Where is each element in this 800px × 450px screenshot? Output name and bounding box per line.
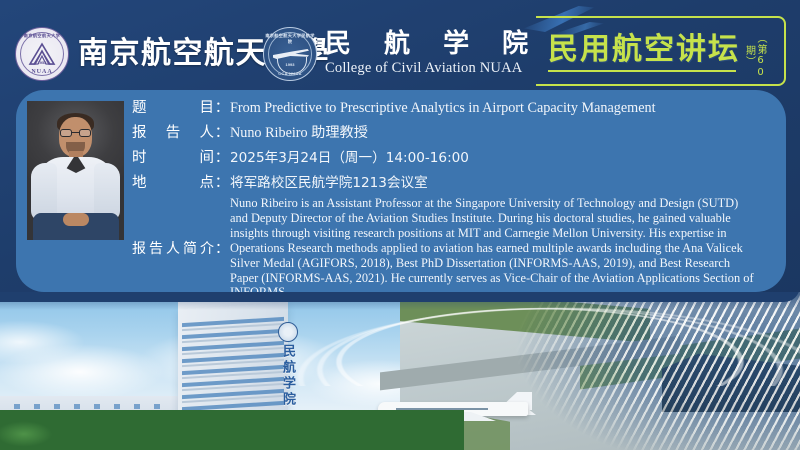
portrait-glasses-icon xyxy=(60,129,91,137)
header: 南京航空航天大学 1952 NUAA 南京航空航天大學 南京航空航天大学民航学院… xyxy=(0,0,800,90)
bottom-imagery: 民航学院 xyxy=(0,292,800,450)
seal-arc-text: 南京航空航天大学 xyxy=(16,33,68,39)
seal-acronym: NUAA xyxy=(16,69,68,75)
seal-arc-text: 南京航空航天大学民航学院 xyxy=(264,33,316,45)
bio-text: Nuno Ribeiro is an Assistant Professor a… xyxy=(230,196,782,300)
portrait-hands xyxy=(63,213,89,226)
forum-underline xyxy=(548,70,736,72)
info-colon: ： xyxy=(214,146,230,171)
speaker-bio-block: 报告人简介 ： Nuno Ribeiro is an Assistant Pro… xyxy=(132,196,782,300)
forum-title-block: 民用航空讲坛 （第60期） xyxy=(538,16,786,86)
building-vertical-text: 民航学院 xyxy=(277,344,297,408)
speaker-portrait-photo xyxy=(27,101,124,240)
forum-issue-number: （第60期） xyxy=(744,30,766,82)
civil-aviation-college-seal-icon: 南京航空航天大学民航学院 1993 CCA NUAA xyxy=(263,27,317,81)
bio-colon: ： xyxy=(214,238,230,258)
info-row-speaker: 报告人 ： Nuno Ribeiro 助理教授 xyxy=(132,121,782,146)
college-name-en: College of Civil Aviation NUAA xyxy=(325,60,522,77)
nuaa-university-seal-icon: 南京航空航天大学 1952 NUAA xyxy=(15,27,69,81)
seal-year: 1993 xyxy=(264,62,316,67)
info-value-location: 将军路校区民航学院1213会议室 xyxy=(230,171,782,196)
info-label-speaker: 报告人 xyxy=(132,121,214,146)
info-colon: ： xyxy=(214,96,230,121)
top-curve-mask xyxy=(0,292,800,302)
info-colon: ： xyxy=(214,171,230,196)
info-row-title: 题目 ： From Predictive to Prescriptive Ana… xyxy=(132,96,782,121)
info-label-title: 题目 xyxy=(132,96,214,121)
campus-tower-building xyxy=(178,303,288,422)
info-rows: 题目 ： From Predictive to Prescriptive Ana… xyxy=(132,96,782,196)
seal-year: 1952 xyxy=(16,60,68,65)
info-colon: ： xyxy=(214,121,230,146)
forum-title: 民用航空讲坛 xyxy=(548,30,740,70)
bio-label: 报告人简介 xyxy=(132,238,214,258)
poster-root: 南京航空航天大学 1952 NUAA 南京航空航天大學 南京航空航天大学民航学院… xyxy=(0,0,800,450)
tree-line xyxy=(0,410,464,450)
info-label-time: 时间 xyxy=(132,146,214,171)
info-row-location: 地点 ： 将军路校区民航学院1213会议室 xyxy=(132,171,782,196)
info-row-time: 时间 ： 2025年3月24日（周一）14:00-16:00 xyxy=(132,146,782,171)
info-value-speaker: Nuno Ribeiro 助理教授 xyxy=(230,121,782,146)
info-value-time: 2025年3月24日（周一）14:00-16:00 xyxy=(230,146,782,171)
college-name-cn: 民 航 学 院 xyxy=(325,28,540,60)
building-logo-icon xyxy=(278,322,298,342)
seal-acronym: CCA NUAA xyxy=(264,71,316,76)
info-label-location: 地点 xyxy=(132,171,214,196)
info-value-title: From Predictive to Prescriptive Analytic… xyxy=(230,96,782,121)
